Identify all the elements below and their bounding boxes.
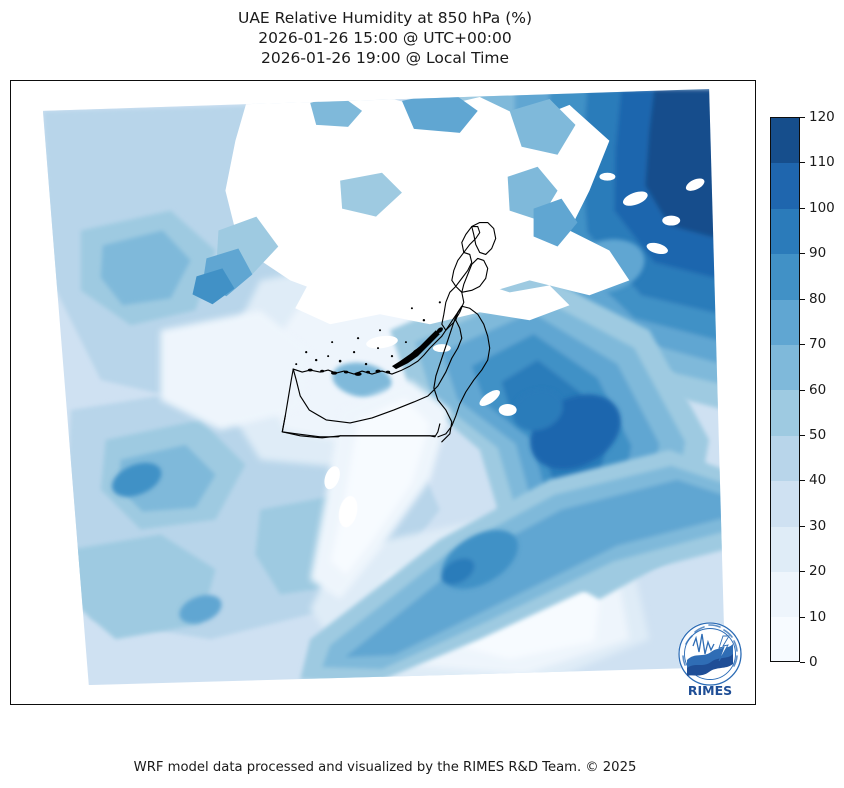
colorbar-tick-100 bbox=[800, 208, 805, 209]
colorbar-tick-label-40: 40 bbox=[809, 472, 826, 488]
colorbar-tick-40 bbox=[800, 480, 805, 481]
rimes-logo-emblem bbox=[678, 622, 742, 686]
colorbar-band-20-30 bbox=[771, 527, 799, 572]
colorbar: 0102030405060708090100110120 bbox=[770, 117, 800, 662]
map-axes-frame: RIMES bbox=[10, 80, 756, 705]
relative-humidity-contour-map bbox=[11, 81, 755, 704]
title-line-variable: UAE Relative Humidity at 850 hPa (%) bbox=[0, 8, 770, 28]
chart-title: UAE Relative Humidity at 850 hPa (%) 202… bbox=[0, 8, 770, 68]
colorbar-tick-label-100: 100 bbox=[809, 200, 835, 216]
title-line-local-time: 2026-01-26 19:00 @ Local Time bbox=[0, 48, 770, 68]
colorbar-tick-label-90: 90 bbox=[809, 245, 826, 261]
colorbar-band-50-60 bbox=[771, 390, 799, 435]
colorbar-tick-label-0: 0 bbox=[809, 654, 818, 670]
colorbar-tick-label-60: 60 bbox=[809, 382, 826, 398]
colorbar-tick-label-120: 120 bbox=[809, 109, 835, 125]
colorbar-band-30-40 bbox=[771, 481, 799, 526]
colorbar-band-0-10 bbox=[771, 617, 799, 662]
colorbar-tick-120 bbox=[800, 117, 805, 118]
colorbar-tick-10 bbox=[800, 617, 805, 618]
footer-credit: WRF model data processed and visualized … bbox=[0, 760, 770, 775]
colorbar-tick-20 bbox=[800, 571, 805, 572]
colorbar-tick-110 bbox=[800, 162, 805, 163]
colorbar-band-110-120 bbox=[771, 118, 799, 163]
colorbar-tick-80 bbox=[800, 299, 805, 300]
colorbar-band-40-50 bbox=[771, 436, 799, 481]
colorbar-gradient bbox=[770, 117, 800, 662]
colorbar-band-60-70 bbox=[771, 345, 799, 390]
contour-field bbox=[11, 81, 755, 704]
colorbar-tick-label-20: 20 bbox=[809, 563, 826, 579]
colorbar-band-70-80 bbox=[771, 300, 799, 345]
colorbar-tick-label-30: 30 bbox=[809, 518, 826, 534]
title-line-utc-time: 2026-01-26 15:00 @ UTC+00:00 bbox=[0, 28, 770, 48]
weather-map-figure: UAE Relative Humidity at 850 hPa (%) 202… bbox=[0, 0, 844, 788]
colorbar-tick-30 bbox=[800, 526, 805, 527]
colorbar-tick-label-70: 70 bbox=[809, 336, 826, 352]
colorbar-tick-70 bbox=[800, 344, 805, 345]
colorbar-tick-60 bbox=[800, 390, 805, 391]
colorbar-band-10-20 bbox=[771, 572, 799, 617]
colorbar-tick-label-110: 110 bbox=[809, 154, 835, 170]
colorbar-tick-50 bbox=[800, 435, 805, 436]
colorbar-tick-label-50: 50 bbox=[809, 427, 826, 443]
colorbar-band-100-110 bbox=[771, 163, 799, 208]
colorbar-band-80-90 bbox=[771, 254, 799, 299]
colorbar-tick-90 bbox=[800, 253, 805, 254]
colorbar-tick-label-80: 80 bbox=[809, 291, 826, 307]
colorbar-band-90-100 bbox=[771, 209, 799, 254]
rimes-logo: RIMES bbox=[673, 616, 747, 700]
colorbar-tick-label-10: 10 bbox=[809, 609, 826, 625]
rimes-logo-wordmark: RIMES bbox=[688, 683, 732, 698]
colorbar-tick-0 bbox=[800, 662, 805, 663]
